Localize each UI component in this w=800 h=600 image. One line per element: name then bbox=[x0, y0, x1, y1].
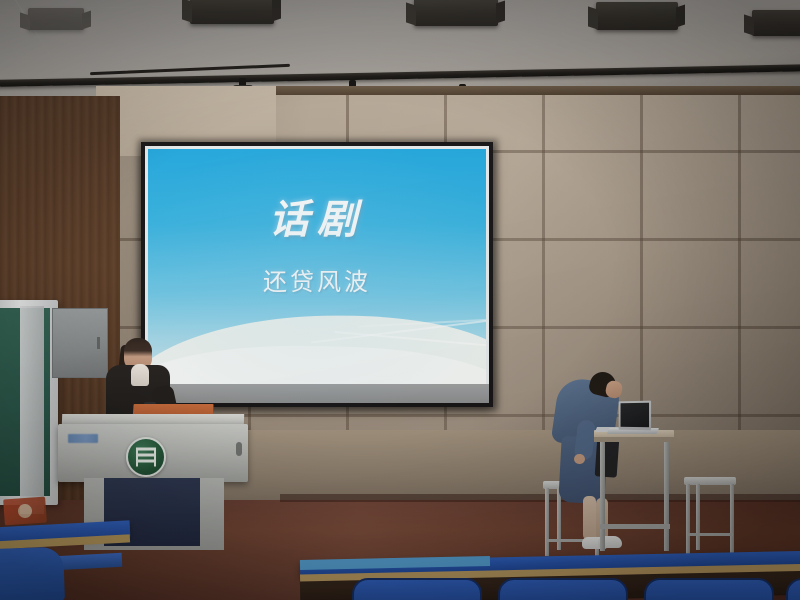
foreground-chair bbox=[0, 547, 65, 600]
auditorium-scene: 话剧 还贷风波 bbox=[0, 0, 800, 600]
poster bbox=[3, 497, 47, 526]
podium-knob-icon bbox=[236, 442, 242, 456]
audience-chair bbox=[352, 578, 482, 600]
floor-edge bbox=[280, 494, 800, 502]
slide-title: 话剧 bbox=[148, 187, 486, 245]
table-leg bbox=[664, 441, 669, 551]
slide-subtitle: 还贷风波 bbox=[148, 262, 486, 297]
table-stretcher bbox=[600, 524, 670, 529]
wall-cabinet bbox=[52, 308, 108, 378]
laptop-table-edge bbox=[594, 437, 674, 442]
operator-hand bbox=[574, 454, 585, 464]
cabinet-latch-icon bbox=[97, 337, 100, 349]
presenter-collar bbox=[131, 364, 149, 386]
screen-bottom-bar bbox=[145, 384, 489, 403]
ceiling-fixture-icon bbox=[596, 2, 678, 30]
ceiling-fixture-icon bbox=[190, 0, 274, 24]
projection-screen: 话剧 还贷风波 bbox=[141, 142, 493, 407]
ceiling-fixture-icon bbox=[752, 10, 800, 36]
school-crest-icon bbox=[126, 437, 166, 477]
audience-chair bbox=[644, 578, 774, 600]
chalkboard-frame bbox=[20, 306, 44, 514]
table-leg bbox=[600, 441, 605, 551]
ceiling-fixture-icon bbox=[414, 0, 498, 26]
operator-bag bbox=[595, 436, 620, 477]
operator-leg bbox=[583, 496, 596, 540]
ceiling-fixture-icon bbox=[28, 8, 84, 30]
podium-brand-mark bbox=[68, 434, 98, 443]
presentation-slide: 话剧 还贷风波 bbox=[148, 149, 486, 384]
laptop-screen[interactable] bbox=[619, 401, 651, 431]
audience-chair bbox=[498, 578, 628, 600]
